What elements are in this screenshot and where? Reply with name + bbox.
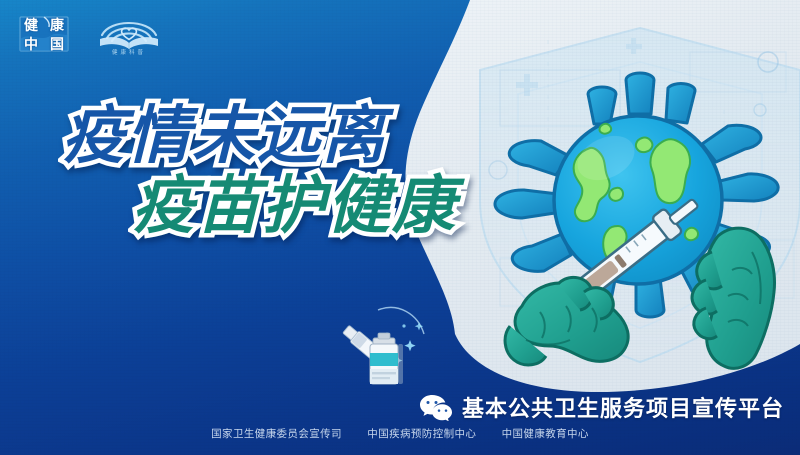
logo-row: 健 康 中 国 健康科普 bbox=[18, 13, 168, 55]
title-line-2: 疫苗护健康 bbox=[132, 174, 457, 238]
healthy-china-characters: 健 康 中 国 bbox=[18, 15, 70, 53]
credit-item-0: 国家卫生健康委员会宣传司 bbox=[211, 428, 342, 440]
main-illustration bbox=[466, 40, 796, 380]
vaccine-vial-icon bbox=[370, 333, 403, 384]
credit-item-1: 中国疾病预防控制中心 bbox=[367, 428, 476, 440]
logo-char-guo: 国 bbox=[50, 37, 64, 51]
logo-char-jian: 健 bbox=[24, 18, 38, 32]
credits-line: 国家卫生健康委员会宣传司 中国疾病预防控制中心 中国健康教育中心 bbox=[0, 426, 800, 441]
wechat-platform-row[interactable]: 基本公共卫生服务项目宣传平台 bbox=[419, 391, 784, 423]
healthy-china-logo: 健 康 中 国 bbox=[18, 15, 70, 53]
credit-item-2: 中国健康教育中心 bbox=[502, 428, 589, 440]
wechat-platform-label: 基本公共卫生服务项目宣传平台 bbox=[462, 391, 784, 423]
vaccine-vial-illustration bbox=[332, 296, 452, 400]
vial-and-syringe-svg bbox=[332, 296, 452, 400]
logo-char-zhong: 中 bbox=[24, 37, 38, 51]
health-science-logo-caption: 健康科普 bbox=[90, 48, 168, 56]
health-science-logo: 健康科普 bbox=[90, 13, 168, 55]
title-line-1: 疫情未远离 bbox=[62, 104, 457, 168]
poster-canvas: 健 康 中 国 健康科普 疫情未远离 疫苗护健康 bbox=[0, 0, 800, 455]
poster-title: 疫情未远离 疫苗护健康 bbox=[62, 104, 457, 239]
virus-globe-vaccination-svg bbox=[466, 40, 796, 380]
wechat-icon bbox=[419, 393, 453, 421]
logo-char-kang: 康 bbox=[50, 18, 64, 32]
